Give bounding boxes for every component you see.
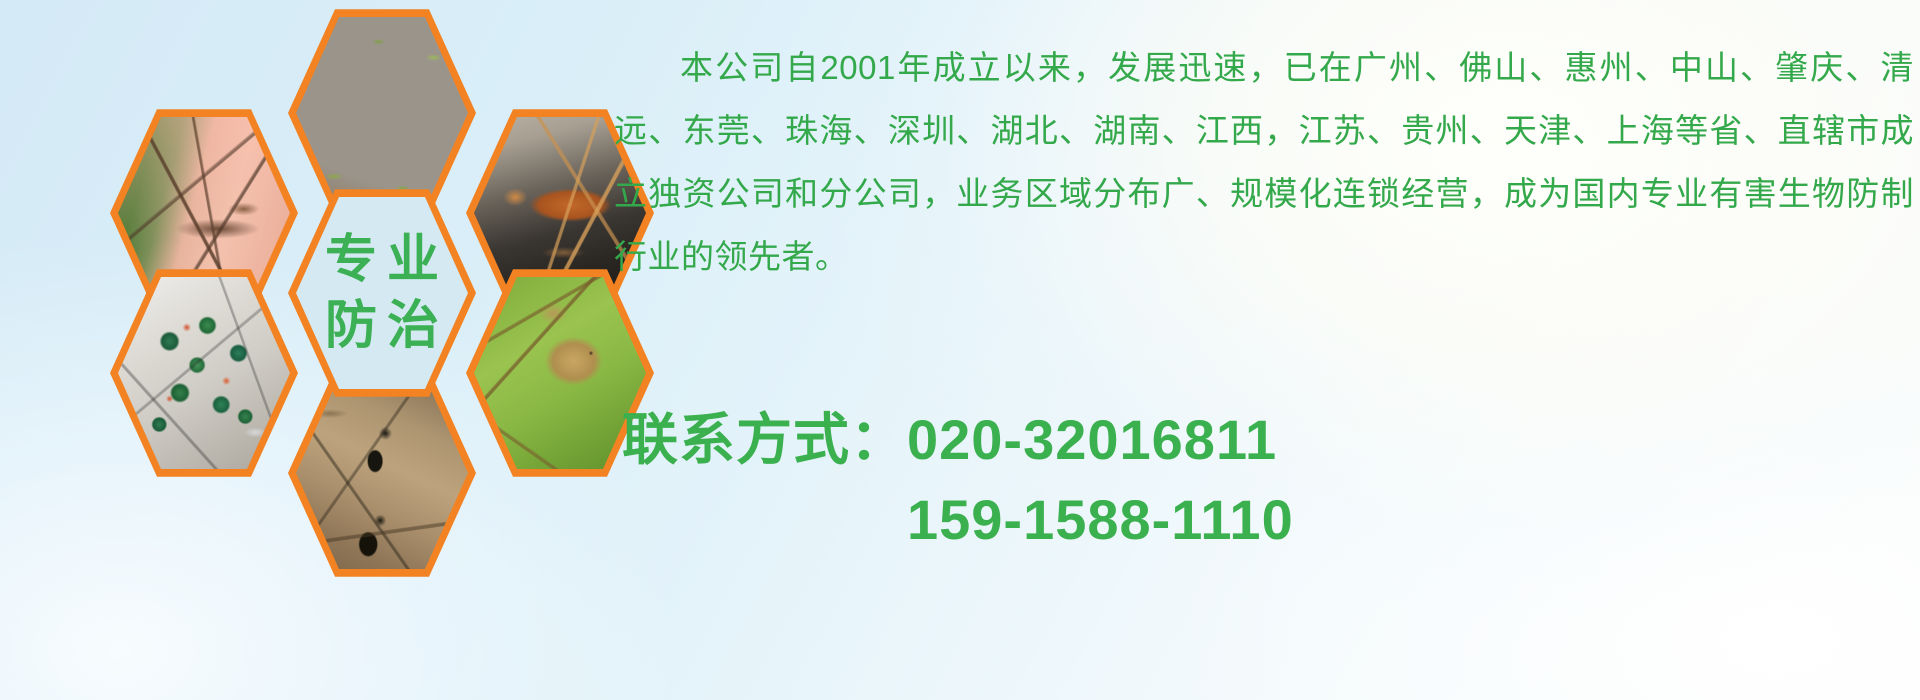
center-label-text: 专业 防治 bbox=[288, 186, 476, 400]
hexagon-photo-collage: 专业 防治 bbox=[88, 0, 588, 568]
contact-block: 联系方式：020-32016811 159-1588-1110 bbox=[622, 400, 1822, 560]
center-label-line1: 专业 bbox=[315, 234, 449, 286]
hex-cell-flies bbox=[110, 266, 298, 480]
banner-content: 本公司自2001年成立以来，发展迅速，已在广州、佛山、惠州、中山、肇庆、清远、东… bbox=[600, 0, 1920, 700]
hex-cell-center-label: 专业 防治 bbox=[288, 186, 476, 400]
promotional-banner: 专业 防治 本公司自2001年成立以来，发展迅速，已在广州、佛山、惠州、中山、肇… bbox=[0, 0, 1920, 700]
contact-line-secondary[interactable]: 159-1588-1110 bbox=[622, 480, 1822, 560]
company-intro-paragraph: 本公司自2001年成立以来，发展迅速，已在广州、佛山、惠州、中山、肇庆、清远、东… bbox=[614, 36, 1914, 288]
contact-line-primary[interactable]: 联系方式：020-32016811 bbox=[622, 400, 1822, 480]
center-label-line2: 防治 bbox=[315, 300, 449, 352]
